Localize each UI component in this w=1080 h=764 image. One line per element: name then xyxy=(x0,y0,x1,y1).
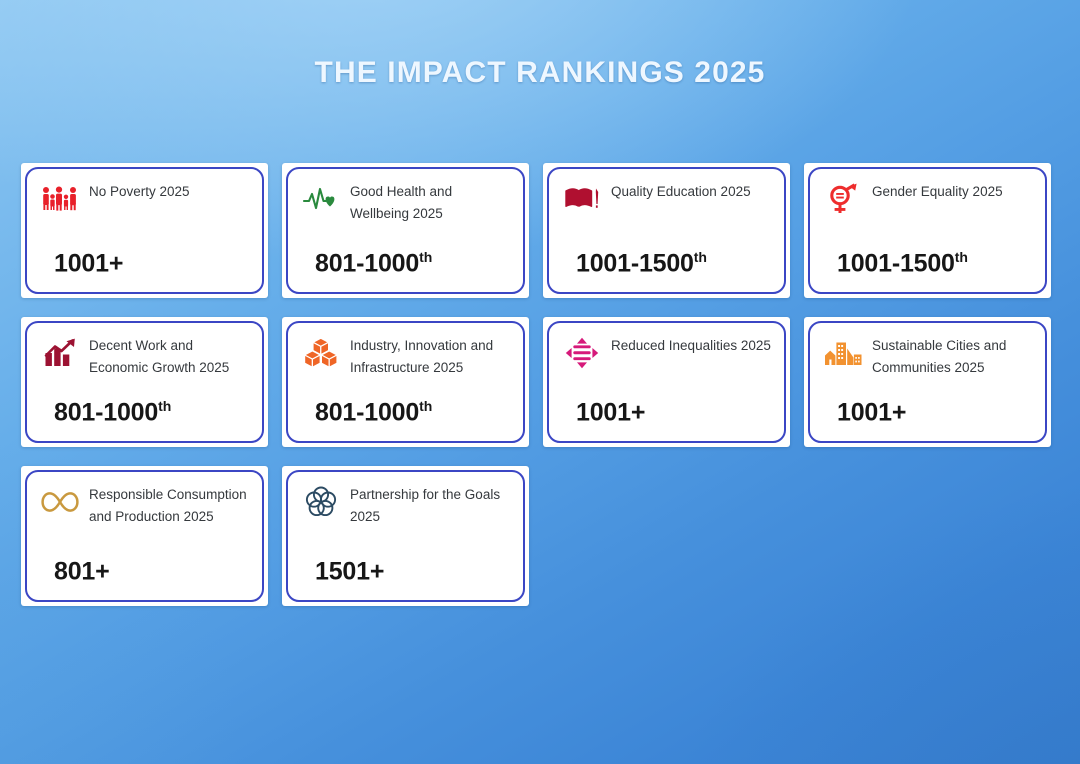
rank-value: 801-1000 xyxy=(315,398,419,426)
card-label: Quality Education 2025 xyxy=(611,180,751,203)
ranking-card-responsible-consumption-production[interactable]: Responsible Consumption and Production 2… xyxy=(21,466,268,606)
card-rank: 1001+ xyxy=(562,398,771,429)
ranking-card-good-health-and-wellbeing[interactable]: Good Health and Wellbeing 2025 801-1000t… xyxy=(282,163,529,298)
card-rank: 1001+ xyxy=(823,398,1032,429)
rank-value: 1001-1500 xyxy=(576,249,694,277)
card-header: Reduced Inequalities 2025 xyxy=(562,334,771,370)
card-header: Partnership for the Goals 2025 xyxy=(301,483,510,528)
city-buildings-icon xyxy=(823,334,863,370)
card-label: No Poverty 2025 xyxy=(89,180,190,203)
ranking-card-quality-education[interactable]: Quality Education 2025 1001-1500th xyxy=(543,163,790,298)
card-label: Gender Equality 2025 xyxy=(872,180,1003,203)
card-label: Sustainable Cities and Communities 2025 xyxy=(872,334,1032,379)
heartbeat-pulse-icon xyxy=(301,180,341,216)
card-rank: 801+ xyxy=(40,557,249,588)
rank-value: 801-1000 xyxy=(54,398,158,426)
rank-suffix: th xyxy=(158,398,171,414)
growth-bar-chart-arrow-icon xyxy=(40,334,80,370)
card-header: Sustainable Cities and Communities 2025 xyxy=(823,334,1032,379)
rankings-grid: No Poverty 2025 1001+ Good Health an xyxy=(21,163,1063,606)
card-rank: 801-1000th xyxy=(301,398,510,429)
rank-value: 1001+ xyxy=(576,398,645,426)
rank-value: 801+ xyxy=(54,557,110,585)
card-header: Good Health and Wellbeing 2025 xyxy=(301,180,510,225)
open-book-pencil-icon xyxy=(562,180,602,216)
card-header: Decent Work and Economic Growth 2025 xyxy=(40,334,249,379)
ranking-card-decent-work-economic-growth[interactable]: Decent Work and Economic Growth 2025 801… xyxy=(21,317,268,447)
card-header: No Poverty 2025 xyxy=(40,180,249,216)
card-label: Industry, Innovation and Infrastructure … xyxy=(350,334,510,379)
card-rank: 1001-1500th xyxy=(823,249,1032,280)
ranking-card-sustainable-cities-communities[interactable]: Sustainable Cities and Communities 2025 … xyxy=(804,317,1051,447)
ranking-card-no-poverty[interactable]: No Poverty 2025 1001+ xyxy=(21,163,268,298)
interlocking-circles-icon xyxy=(301,483,341,519)
card-rank: 1001-1500th xyxy=(562,249,771,280)
ranking-card-partnership-for-the-goals[interactable]: Partnership for the Goals 2025 1501+ xyxy=(282,466,529,606)
card-rank: 801-1000th xyxy=(40,398,249,429)
impact-rankings-page: THE IMPACT RANKINGS 2025 xyxy=(0,0,1080,764)
stacked-cubes-icon xyxy=(301,334,341,370)
rank-suffix: th xyxy=(419,249,432,265)
card-rank: 1501+ xyxy=(301,557,510,588)
card-label: Decent Work and Economic Growth 2025 xyxy=(89,334,249,379)
rank-suffix: th xyxy=(694,249,707,265)
rank-suffix: th xyxy=(955,249,968,265)
ranking-card-gender-equality[interactable]: Gender Equality 2025 1001-1500th xyxy=(804,163,1051,298)
ranking-card-industry-innovation-infrastructure[interactable]: Industry, Innovation and Infrastructure … xyxy=(282,317,529,447)
card-header: Industry, Innovation and Infrastructure … xyxy=(301,334,510,379)
card-label: Partnership for the Goals 2025 xyxy=(350,483,510,528)
rank-value: 1001-1500 xyxy=(837,249,955,277)
rank-value: 801-1000 xyxy=(315,249,419,277)
rank-value: 1501+ xyxy=(315,557,384,585)
rank-suffix: th xyxy=(419,398,432,414)
card-rank: 1001+ xyxy=(40,249,249,280)
card-header: Quality Education 2025 xyxy=(562,180,771,216)
infinity-loop-icon xyxy=(40,483,80,519)
people-family-icon xyxy=(40,180,80,216)
card-header: Gender Equality 2025 xyxy=(823,180,1032,216)
ranking-card-reduced-inequalities[interactable]: Reduced Inequalities 2025 1001+ xyxy=(543,317,790,447)
card-label: Responsible Consumption and Production 2… xyxy=(89,483,249,528)
card-rank: 801-1000th xyxy=(301,249,510,280)
card-header: Responsible Consumption and Production 2… xyxy=(40,483,249,528)
page-title: THE IMPACT RANKINGS 2025 xyxy=(0,56,1080,90)
rank-value: 1001+ xyxy=(837,398,906,426)
rank-value: 1001+ xyxy=(54,249,123,277)
card-label: Reduced Inequalities 2025 xyxy=(611,334,771,357)
gender-equality-symbol-icon xyxy=(823,180,863,216)
equality-arrows-icon xyxy=(562,334,602,370)
card-label: Good Health and Wellbeing 2025 xyxy=(350,180,510,225)
